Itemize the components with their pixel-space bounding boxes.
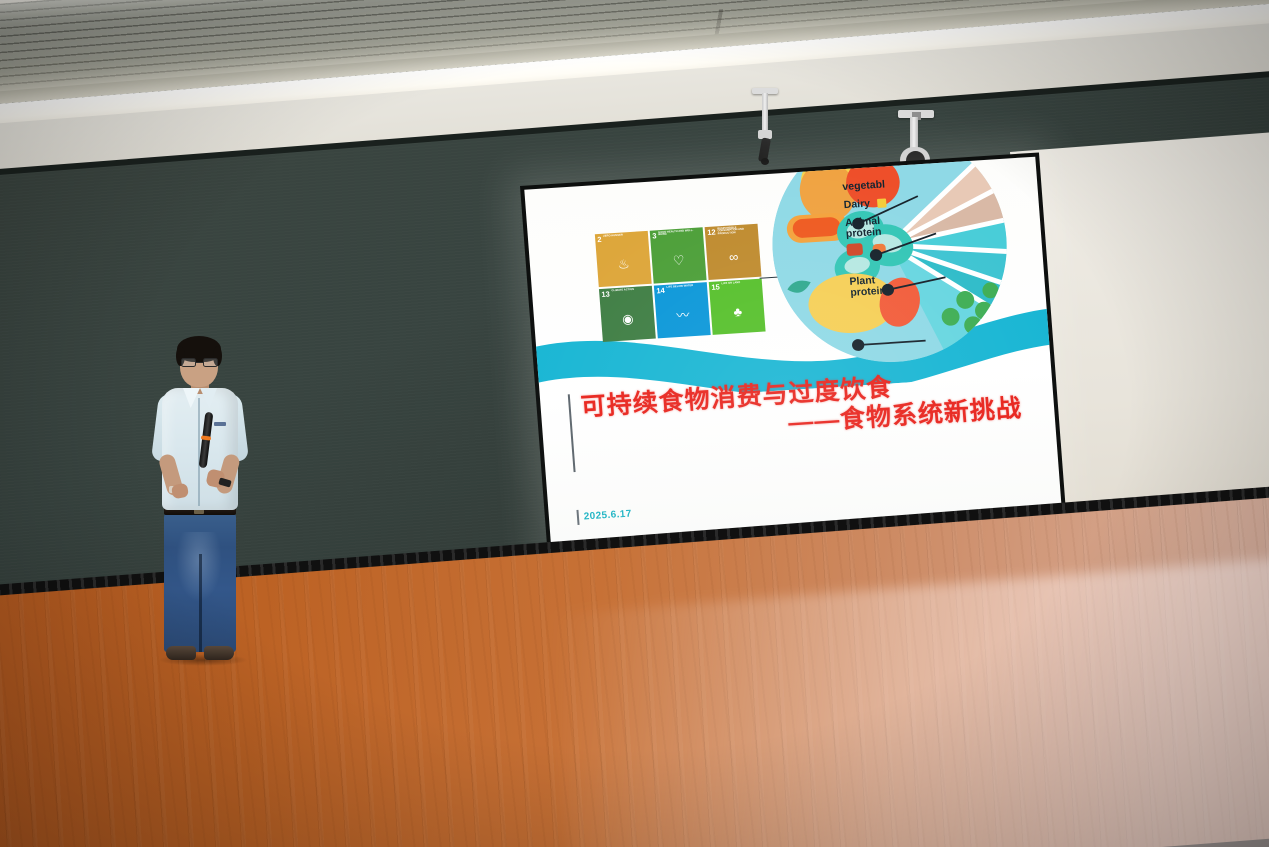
legend-leader-lines bbox=[791, 174, 1050, 367]
eyeglasses-bridge bbox=[196, 362, 203, 363]
climate-action-icon: ◉ bbox=[602, 295, 654, 342]
date-accent-bar bbox=[577, 510, 580, 525]
lecture-hall-scene: 2 ZERO HUNGER ♨ 3 GOOD HEALTH AND WELL-B… bbox=[0, 0, 1269, 847]
camera-pole bbox=[762, 93, 768, 133]
eyeglasses-lens-right bbox=[203, 358, 218, 367]
sdg-icon-15: 15 LIFE ON LAND ♣ bbox=[708, 278, 766, 335]
sdg-icon-13: 13 CLIMATE ACTION ◉ bbox=[598, 285, 656, 342]
sdg-name: ZERO HUNGER bbox=[603, 234, 623, 238]
sdg-name: CLIMATE ACTION bbox=[611, 288, 634, 292]
presenter bbox=[136, 336, 266, 666]
title-accent-bar bbox=[568, 394, 575, 472]
zero-hunger-icon: ♨ bbox=[598, 240, 650, 287]
sdg-name: LIFE BELOW WATER bbox=[666, 285, 693, 289]
ceiling-camera bbox=[748, 88, 782, 168]
sdg-icon-grid: 2 ZERO HUNGER ♨ 3 GOOD HEALTH AND WELL-B… bbox=[594, 223, 766, 342]
sdg-icon-2: 2 ZERO HUNGER ♨ bbox=[594, 230, 652, 287]
camera-lens-icon bbox=[761, 158, 769, 165]
sdg-icon-14: 14 LIFE BELOW WATER 〰 bbox=[653, 282, 711, 339]
eyeglasses-icon bbox=[181, 358, 218, 367]
slide-date-row: 2025.6.17 bbox=[577, 506, 633, 524]
presenter-shoe-right bbox=[204, 646, 234, 660]
slide-date: 2025.6.17 bbox=[583, 508, 632, 522]
good-health-icon: ♡ bbox=[653, 236, 705, 283]
presenter-jeans-seam bbox=[199, 554, 202, 652]
life-below-water-icon: 〰 bbox=[657, 291, 709, 338]
sdg-name: LIFE ON LAND bbox=[721, 282, 740, 286]
projector-pole bbox=[910, 117, 918, 149]
eyeglasses-lens-left bbox=[181, 358, 196, 367]
presenter-shirt-pocket bbox=[214, 422, 226, 426]
presenter-shoe-left bbox=[166, 646, 196, 660]
life-on-land-icon: ♣ bbox=[712, 288, 764, 335]
sdg-icon-12: 12 RESPONSIBLE CONSUMPTION AND PRODUCTIO… bbox=[704, 223, 762, 280]
sdg-number: 12 bbox=[707, 228, 716, 236]
sdg-icon-3: 3 GOOD HEALTH AND WELL-BEING ♡ bbox=[649, 227, 707, 284]
responsible-consumption-icon: ∞ bbox=[708, 233, 760, 280]
